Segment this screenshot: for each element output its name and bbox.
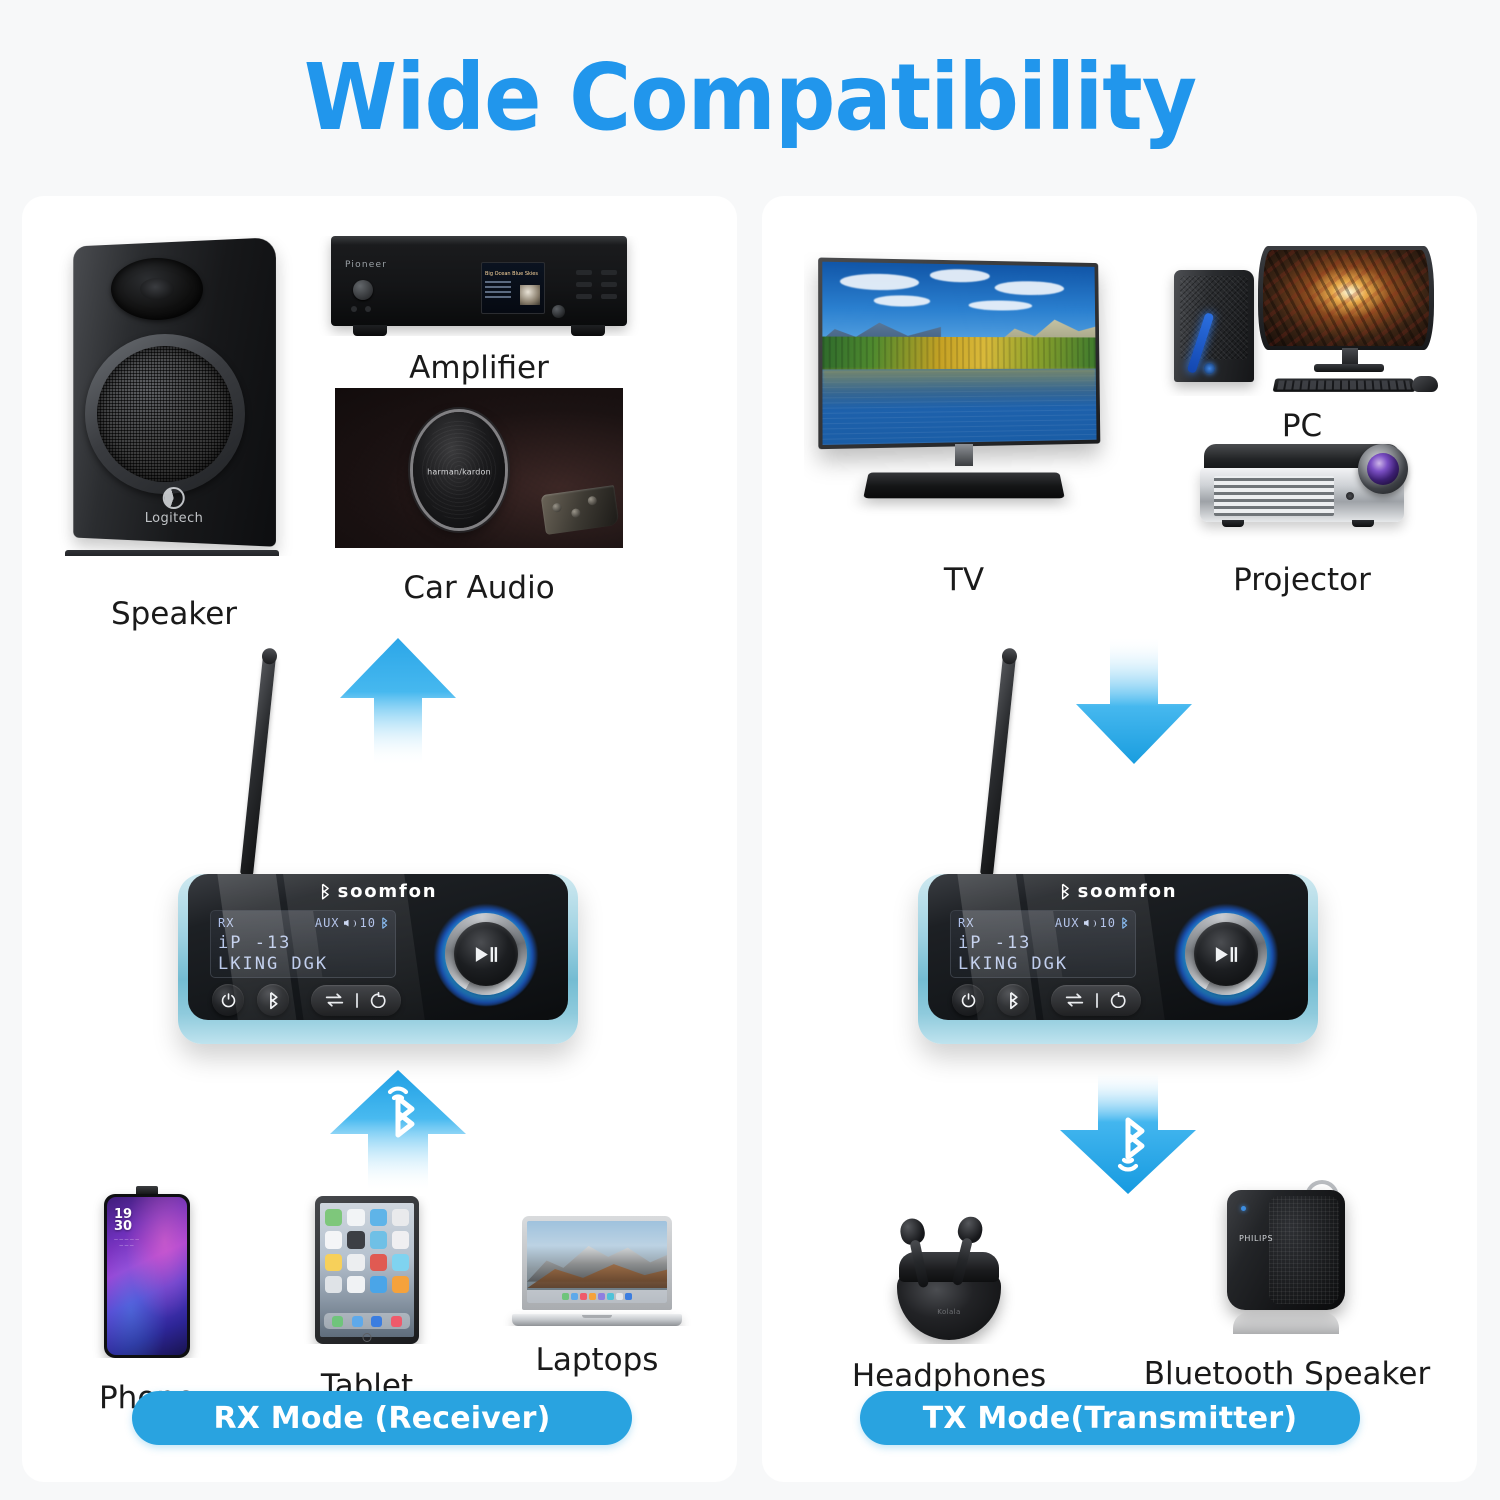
brand-text: soomfon — [1078, 881, 1178, 902]
source-device-laptop: Laptops — [482, 1216, 712, 1378]
output-device-label: Projector — [1152, 562, 1452, 598]
source-device-tablet: Tablet — [272, 1196, 462, 1404]
output-device-projector: Projector — [1152, 440, 1452, 598]
output-device-label: Car Audio — [314, 570, 644, 606]
car-audio-icon: harman/kardon — [314, 388, 644, 548]
play-pause-icon — [1214, 946, 1238, 963]
mode-loop-button-group[interactable] — [311, 985, 401, 1016]
phone-minute: 30 — [114, 1219, 132, 1234]
bluetooth-button[interactable] — [257, 984, 289, 1016]
transfer-arrows-icon[interactable] — [324, 992, 345, 1008]
speaker-icon: Logitech — [46, 236, 302, 556]
signal-arrow-up — [338, 636, 458, 766]
amplifier-icon: Pioneer Big Ocean Blue Skies — [314, 236, 644, 336]
power-button[interactable] — [952, 984, 984, 1016]
page-title: Wide Compatibility — [60, 44, 1440, 151]
device-body: soomfon RX AUX 10 iP — [178, 874, 578, 1044]
bluetooth-icon — [267, 991, 280, 1010]
phone-hour: 19 — [114, 1207, 132, 1222]
pc-icon — [1152, 240, 1452, 396]
phone-icon: 19 30 — — — — —— — — — [52, 1186, 242, 1358]
source-device-bluetooth-speaker: PHILIPS Bluetooth Speaker — [1142, 1180, 1432, 1392]
bluetooth-adapter-tx[interactable]: soomfon RX AUX 10 iP — [918, 868, 1318, 1068]
output-device-speaker: Logitech Speaker — [46, 236, 302, 632]
source-device-label: Bluetooth Speaker — [1142, 1356, 1432, 1392]
lcd-input: AUX — [1055, 916, 1080, 930]
bluetooth-signal-arrow-down — [1058, 1068, 1198, 1196]
source-device-phone: 19 30 — — — — —— — — Phone — [52, 1186, 242, 1416]
button-divider — [356, 993, 358, 1008]
output-device-car-audio: harman/kardon Car Audio — [314, 388, 644, 606]
bluetooth-speaker-icon: PHILIPS — [1142, 1180, 1432, 1340]
laptop-icon — [482, 1216, 712, 1326]
brand-logo: soomfon — [1059, 881, 1178, 902]
mode-loop-button-group[interactable] — [1051, 985, 1141, 1016]
source-device-headphones: Kolala Headphones — [824, 1184, 1074, 1394]
rx-mode-badge[interactable]: RX Mode (Receiver) — [132, 1391, 632, 1445]
output-device-label: Speaker — [46, 596, 302, 632]
bluetooth-icon — [380, 917, 389, 929]
play-pause-knob[interactable] — [434, 902, 538, 1006]
tx-mode-badge[interactable]: TX Mode(Transmitter) — [860, 1391, 1360, 1445]
source-device-label: Laptops — [482, 1342, 712, 1378]
loop-icon[interactable] — [369, 992, 388, 1008]
output-device-pc: PC — [1152, 240, 1452, 444]
tablet-icon — [272, 1196, 462, 1344]
bluetooth-icon — [1120, 917, 1129, 929]
bluetooth-icon — [1007, 991, 1020, 1010]
loop-icon[interactable] — [1109, 992, 1128, 1008]
power-button[interactable] — [212, 984, 244, 1016]
power-icon — [220, 992, 237, 1009]
tx-mode-panel: TV PC — [762, 196, 1477, 1482]
volume-icon — [1084, 918, 1096, 929]
rx-mode-panel: Logitech Speaker Pioneer Big Ocean Blue … — [22, 196, 737, 1482]
signal-arrow-down — [1074, 636, 1194, 766]
output-device-amplifier: Pioneer Big Ocean Blue Skies Amplifier — [314, 236, 644, 386]
amplifier-track-title: Big Ocean Blue Skies — [485, 271, 538, 277]
antenna — [240, 654, 276, 876]
transfer-arrows-icon[interactable] — [1064, 992, 1085, 1008]
play-pause-icon — [474, 946, 498, 963]
output-device-tv: TV — [804, 252, 1124, 598]
output-device-label: PC — [1152, 408, 1452, 444]
device-lcd-screen: RX AUX 10 iP -13 LKING DGK — [210, 910, 396, 978]
output-device-label: TV — [804, 562, 1124, 598]
power-icon — [960, 992, 977, 1009]
device-lcd-screen: RX AUX 10 iP -13 LKING DGK — [950, 910, 1136, 978]
lcd-input: AUX — [315, 916, 340, 930]
lcd-volume: 10 — [1100, 916, 1116, 930]
source-device-label: Headphones — [824, 1358, 1074, 1394]
bluetooth-signal-arrow-up — [328, 1068, 468, 1192]
play-pause-knob[interactable] — [1174, 902, 1278, 1006]
tv-icon — [804, 252, 1124, 524]
output-device-label: Amplifier — [314, 350, 644, 386]
antenna — [980, 654, 1016, 876]
projector-icon — [1152, 440, 1452, 540]
headphones-icon: Kolala — [824, 1184, 1074, 1344]
lcd-volume: 10 — [360, 916, 376, 930]
button-divider — [1096, 993, 1098, 1008]
brand-logo: soomfon — [319, 881, 438, 902]
brand-text: soomfon — [338, 881, 438, 902]
device-body: soomfon RX AUX 10 iP — [918, 874, 1318, 1044]
volume-icon — [344, 918, 356, 929]
bluetooth-adapter-rx[interactable]: soomfon RX AUX 10 iP — [178, 868, 578, 1068]
bluetooth-button[interactable] — [997, 984, 1029, 1016]
